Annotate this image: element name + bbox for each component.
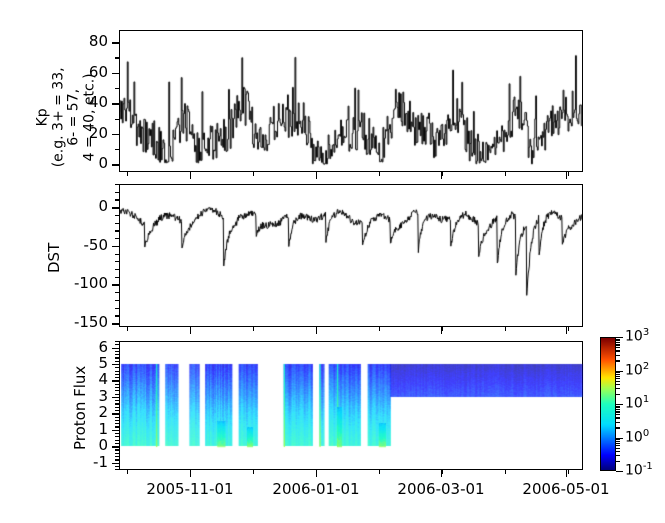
colorbar-minor-tick: [616, 376, 620, 377]
proton-flux-panel-y-major-tick: [112, 463, 119, 464]
x-minor-tick: [505, 172, 506, 176]
colorbar-minor-tick: [616, 355, 620, 356]
proton-flux-panel-y-minor-tick: [115, 459, 119, 460]
proton-flux-panel-y-tick-label: 0: [0, 438, 108, 453]
x-minor-tick: [253, 470, 254, 474]
x-major-tick: [190, 172, 191, 179]
proton-flux-panel-y-minor-tick: [115, 357, 119, 358]
x-minor-tick: [379, 470, 380, 474]
proton-flux-panel-y-minor-tick: [115, 410, 119, 411]
colorbar-minor-tick: [616, 439, 620, 440]
colorbar-minor-tick: [616, 388, 620, 389]
colorbar-minor-tick: [616, 347, 620, 348]
x-tick-label: 2005-11-01: [130, 482, 250, 497]
x-tick-label: 2006-01-01: [256, 482, 376, 497]
colorbar-minor-tick: [616, 411, 620, 412]
proton-flux-panel-y-minor-tick: [115, 394, 119, 395]
proton-flux-panel-y-tick-label: 2: [0, 405, 108, 420]
x-major-tick: [441, 470, 442, 477]
figure-root: 020406080 Kp(e.g. 3+ = 33,6- = 57,4 = 40…: [0, 0, 665, 523]
x-major-tick: [441, 172, 442, 179]
colorbar-tick-label: 103: [625, 328, 649, 344]
colorbar-minor-tick: [616, 409, 620, 410]
colorbar-minor-tick: [616, 394, 620, 395]
x-minor-tick: [379, 172, 380, 176]
x-minor-tick: [568, 172, 569, 176]
proton-flux-panel-y-tick-label: 3: [0, 389, 108, 404]
proton-flux-panel-y-tick-label: 4: [0, 372, 108, 387]
proton-flux-panel-y-minor-tick: [115, 420, 119, 421]
proton-flux-panel-y-minor-tick: [115, 361, 119, 362]
colorbar-major-tick: [616, 337, 623, 338]
colorbar-minor-tick: [616, 406, 620, 407]
x-minor-tick: [505, 327, 506, 331]
colorbar-gradient: [601, 338, 615, 470]
x-minor-tick: [505, 470, 506, 474]
colorbar-tick-label: 101: [625, 395, 649, 411]
proton-flux-panel-y-major-tick: [112, 397, 119, 398]
x-major-tick: [316, 172, 317, 179]
proton-flux-panel-y-minor-tick: [115, 387, 119, 388]
colorbar-frame: [600, 337, 616, 471]
proton-flux-axis-title: Proton Flux: [73, 348, 89, 468]
proton-flux-panel-y-minor-tick: [115, 371, 119, 372]
proton-flux-panel-y-minor-tick: [115, 384, 119, 385]
x-major-tick: [190, 327, 191, 334]
colorbar-minor-tick: [616, 372, 620, 373]
proton-flux-panel-y-minor-tick: [115, 407, 119, 408]
colorbar-minor-tick: [616, 340, 620, 341]
proton-flux-panel-y-minor-tick: [115, 443, 119, 444]
x-minor-tick: [127, 172, 128, 176]
colorbar-minor-tick: [616, 350, 620, 351]
colorbar-major-tick: [616, 404, 623, 405]
proton-flux-panel-y-tick-label: 1: [0, 422, 108, 437]
x-minor-tick: [127, 470, 128, 474]
proton-flux-panel-y-major-tick: [112, 380, 119, 381]
colorbar-minor-tick: [616, 451, 620, 452]
proton-flux-panel-y-minor-tick: [115, 354, 119, 355]
proton-flux-panel-y-minor-tick: [115, 374, 119, 375]
x-major-tick: [566, 172, 567, 179]
colorbar-minor-tick: [616, 441, 620, 442]
colorbar-minor-tick: [616, 374, 620, 375]
colorbar-minor-tick: [616, 378, 620, 379]
proton-flux-panel-y-minor-tick: [115, 341, 119, 342]
colorbar-minor-tick: [616, 422, 620, 423]
proton-flux-panel-y-major-tick: [112, 446, 119, 447]
colorbar-minor-tick: [616, 455, 620, 456]
colorbar-minor-tick: [616, 414, 620, 415]
proton-flux-panel-y-minor-tick: [115, 440, 119, 441]
proton-flux-panel-y-minor-tick: [115, 426, 119, 427]
colorbar-major-tick: [616, 438, 623, 439]
colorbar-minor-tick: [616, 342, 620, 343]
x-minor-tick: [253, 172, 254, 176]
colorbar-minor-tick: [616, 407, 620, 408]
x-minor-tick: [379, 327, 380, 331]
proton-flux-panel-y-minor-tick: [115, 469, 119, 470]
proton-flux-panel-y-minor-tick: [115, 390, 119, 391]
colorbar-minor-tick: [616, 443, 620, 444]
colorbar-minor-tick: [616, 417, 620, 418]
proton-flux-panel-y-tick-label: 6: [0, 340, 108, 355]
proton-flux-panel-y-minor-tick: [115, 344, 119, 345]
x-minor-tick: [127, 327, 128, 331]
proton-flux-panel-y-minor-tick: [115, 403, 119, 404]
proton-flux-panel-y-tick-label: -1: [0, 455, 108, 470]
proton-flux-panel-y-minor-tick: [115, 436, 119, 437]
proton-flux-panel-y-major-tick: [112, 430, 119, 431]
x-major-tick: [566, 327, 567, 334]
x-major-tick: [316, 470, 317, 477]
proton-flux-panel-y-major-tick: [112, 348, 119, 349]
colorbar-minor-tick: [616, 461, 620, 462]
colorbar-minor-tick: [616, 427, 620, 428]
colorbar-minor-tick: [616, 445, 620, 446]
colorbar-tick-label: 102: [625, 362, 649, 378]
proton-flux-panel-y-major-tick: [112, 413, 119, 414]
colorbar-minor-tick: [616, 384, 620, 385]
x-major-tick: [441, 327, 442, 334]
proton-flux-panel-y-minor-tick: [115, 453, 119, 454]
x-minor-tick: [568, 327, 569, 331]
x-major-tick: [316, 327, 317, 334]
colorbar-minor-tick: [616, 381, 620, 382]
proton-flux-panel-y-tick-label: 5: [0, 356, 108, 371]
proton-flux-panel-y-minor-tick: [115, 367, 119, 368]
colorbar-minor-tick: [616, 360, 620, 361]
proton-flux-panel-y-minor-tick: [115, 377, 119, 378]
proton-flux-panel-y-minor-tick: [115, 456, 119, 457]
x-minor-tick: [568, 470, 569, 474]
proton-flux-panel-y-major-tick: [112, 364, 119, 365]
colorbar-minor-tick: [616, 448, 620, 449]
proton-flux-panel-y-minor-tick: [115, 423, 119, 424]
x-major-tick: [190, 470, 191, 477]
x-tick-label: 2006-03-01: [381, 482, 501, 497]
colorbar-major-tick: [616, 371, 623, 372]
colorbar-major-tick: [616, 471, 623, 472]
colorbar-tick-label: 10-1: [625, 462, 653, 478]
proton-flux-panel-y-minor-tick: [115, 449, 119, 450]
proton-flux-panel-y-minor-tick: [115, 351, 119, 352]
proton-flux-panel-y-minor-tick: [115, 433, 119, 434]
proton-flux-panel-y-minor-tick: [115, 417, 119, 418]
x-major-tick: [566, 470, 567, 477]
colorbar-minor-tick: [616, 339, 620, 340]
colorbar-minor-tick: [616, 344, 620, 345]
proton-flux-panel-y-minor-tick: [115, 466, 119, 467]
colorbar-tick-label: 100: [625, 429, 649, 445]
x-minor-tick: [253, 327, 254, 331]
x-tick-label: 2006-05-01: [506, 482, 626, 497]
proton-flux-panel-y-minor-tick: [115, 400, 119, 401]
